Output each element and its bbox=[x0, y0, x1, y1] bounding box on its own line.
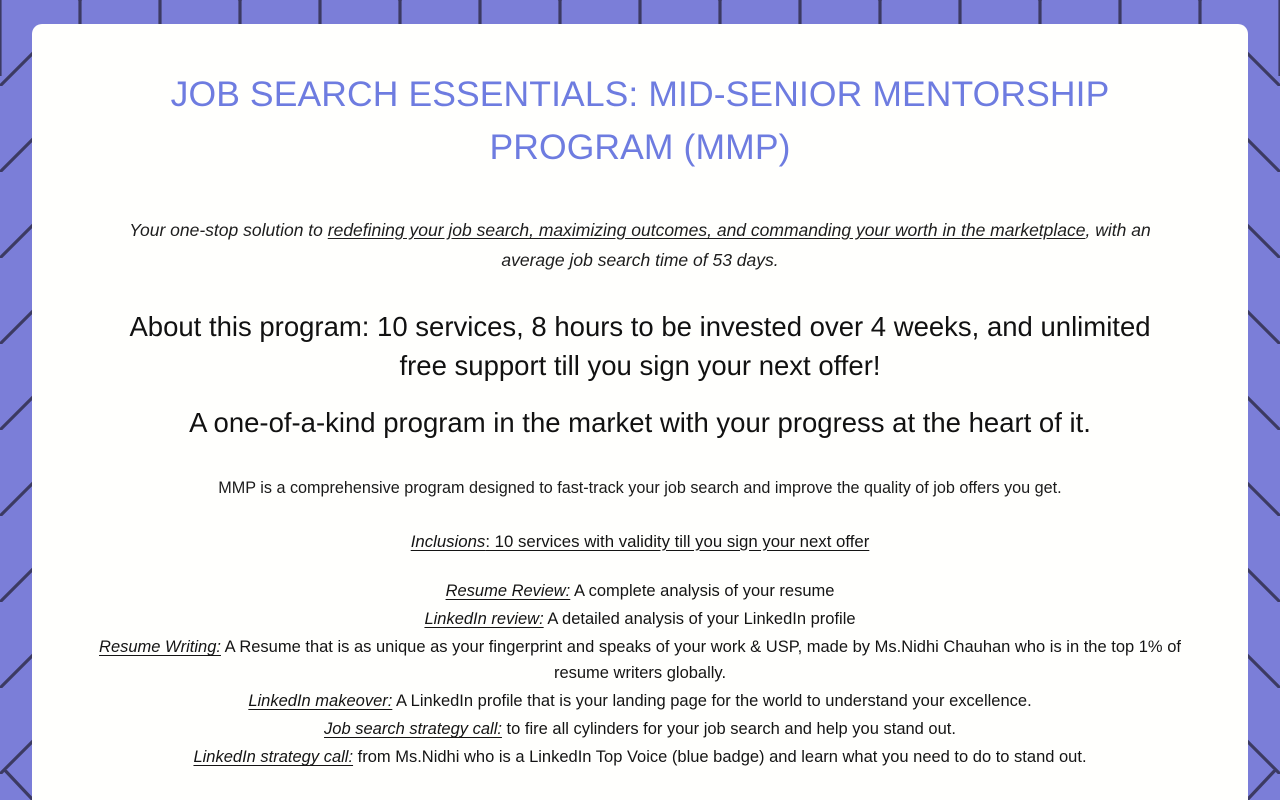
list-item: Resume Writing: A Resume that is as uniq… bbox=[94, 634, 1186, 686]
service-description: A Resume that is as unique as your finge… bbox=[221, 638, 1181, 682]
service-label: Resume Review: bbox=[446, 582, 571, 600]
service-label: Resume Writing: bbox=[99, 638, 221, 656]
service-description: A detailed analysis of your LinkedIn pro… bbox=[544, 610, 856, 628]
list-item: LinkedIn strategy call: from Ms.Nidhi wh… bbox=[94, 744, 1186, 770]
service-label: Job search strategy call: bbox=[324, 720, 502, 738]
page-title: JOB SEARCH ESSENTIALS: MID-SENIOR MENTOR… bbox=[94, 68, 1186, 173]
service-list: Resume Review: A complete analysis of yo… bbox=[94, 578, 1186, 770]
subtitle-prefix: Your one-stop solution to bbox=[129, 220, 327, 240]
list-item: Resume Review: A complete analysis of yo… bbox=[94, 578, 1186, 604]
service-description: A LinkedIn profile that is your landing … bbox=[392, 692, 1031, 710]
service-description: A complete analysis of your resume bbox=[570, 582, 834, 600]
subtitle: Your one-stop solution to redefining you… bbox=[94, 215, 1186, 275]
inclusions-rest: : 10 services with validity till you sig… bbox=[485, 532, 869, 551]
inclusions-heading: Inclusions: 10 services with validity ti… bbox=[94, 529, 1186, 554]
inclusions-emphasis: Inclusions bbox=[411, 532, 486, 551]
service-label: LinkedIn makeover: bbox=[248, 692, 392, 710]
list-item: LinkedIn makeover: A LinkedIn profile th… bbox=[94, 688, 1186, 714]
list-item: Job search strategy call: to fire all cy… bbox=[94, 716, 1186, 742]
service-label: LinkedIn strategy call: bbox=[193, 748, 353, 766]
program-summary-line-2: A one-of-a-kind program in the market wi… bbox=[94, 403, 1186, 442]
content-card: JOB SEARCH ESSENTIALS: MID-SENIOR MENTOR… bbox=[32, 24, 1248, 800]
service-description: to fire all cylinders for your job searc… bbox=[502, 720, 956, 738]
subtitle-underlined: redefining your job search, maximizing o… bbox=[328, 220, 1086, 240]
program-summary-line-1: About this program: 10 services, 8 hours… bbox=[94, 307, 1186, 385]
service-description: from Ms.Nidhi who is a LinkedIn Top Voic… bbox=[353, 748, 1087, 766]
list-item: LinkedIn review: A detailed analysis of … bbox=[94, 606, 1186, 632]
service-label: LinkedIn review: bbox=[424, 610, 543, 628]
program-blurb: MMP is a comprehensive program designed … bbox=[94, 476, 1186, 500]
